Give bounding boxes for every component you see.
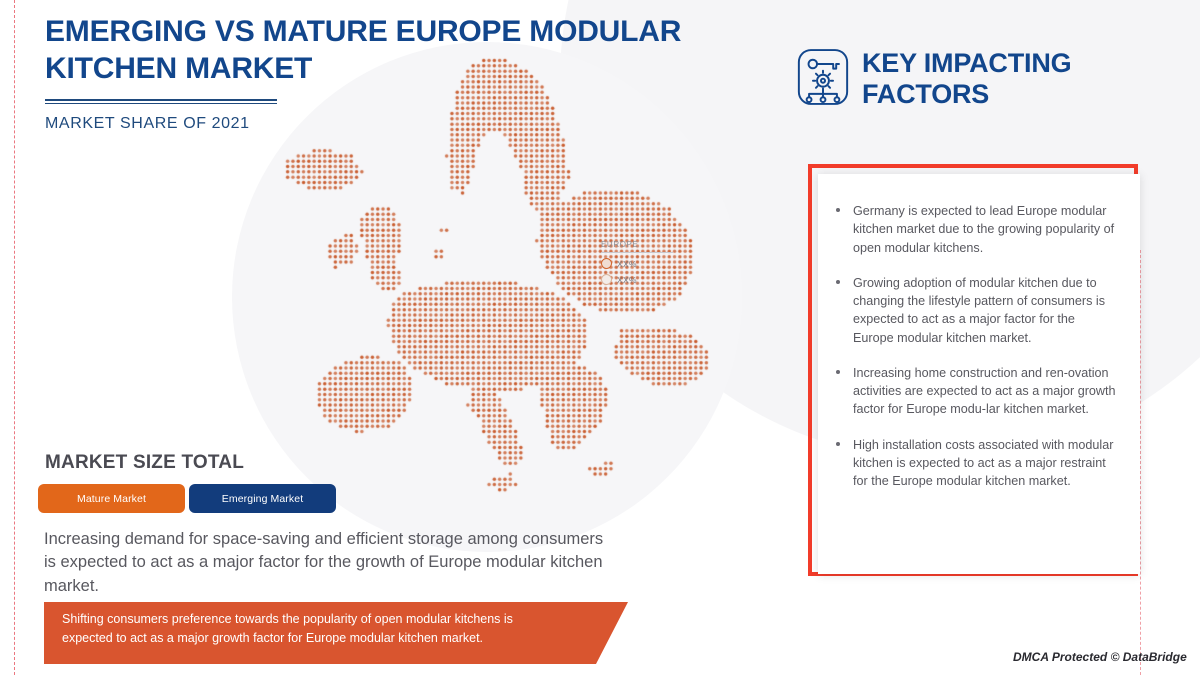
legend-row: XX% xyxy=(601,258,673,269)
growth-factor-banner: Shifting consumers preference towards th… xyxy=(44,602,628,664)
page-title: EMERGING VS MATURE EUROPE MODULAR KITCHE… xyxy=(45,14,745,87)
page-subtitle: MARKET SHARE OF 2021 xyxy=(45,115,745,133)
list-item: Germany is expected to lead Europe modul… xyxy=(836,202,1118,257)
list-item-text: Growing adoption of modular kitchen due … xyxy=(853,276,1105,345)
list-item-text: Increasing home construction and ren-ova… xyxy=(853,366,1116,417)
key-factors-header: KEY IMPACTING FACTORS xyxy=(797,48,1142,109)
title-divider xyxy=(45,99,277,104)
bullet-icon xyxy=(836,208,840,212)
divider-line-bottom xyxy=(45,103,277,104)
market-type-pills: Mature Market Emerging Market xyxy=(38,484,336,513)
faded-dot-icon xyxy=(601,274,612,285)
legend-value: XX% xyxy=(617,259,637,269)
mature-market-pill[interactable]: Mature Market xyxy=(38,484,185,513)
list-item-text: Germany is expected to lead Europe modul… xyxy=(853,204,1114,255)
title-block: EMERGING VS MATURE EUROPE MODULAR KITCHE… xyxy=(45,14,745,133)
infographic-page: EMERGING VS MATURE EUROPE MODULAR KITCHE… xyxy=(0,0,1200,675)
right-dashed-edge xyxy=(1140,250,1141,675)
list-item: Growing adoption of modular kitchen due … xyxy=(836,274,1118,347)
bullet-icon xyxy=(836,280,840,284)
key-factors-list: Germany is expected to lead Europe modul… xyxy=(836,202,1118,490)
bullet-icon xyxy=(836,442,840,446)
bullet-icon xyxy=(836,370,840,374)
legend-row: XX% xyxy=(601,274,673,285)
divider-line-top xyxy=(45,99,277,101)
emerging-market-pill[interactable]: Emerging Market xyxy=(189,484,336,513)
list-item: Increasing home construction and ren-ova… xyxy=(836,364,1118,419)
orange-dot-icon xyxy=(601,258,612,269)
list-item-text: High installation costs associated with … xyxy=(853,438,1113,489)
map-legend: EUROPE XX% XX% xyxy=(601,240,673,285)
copyright-footer: DMCA Protected © DataBridge xyxy=(1013,650,1187,664)
left-dashed-edge xyxy=(14,0,15,675)
legend-value: XX% xyxy=(617,275,637,285)
key-factors-card: Germany is expected to lead Europe modul… xyxy=(818,174,1140,574)
list-item: High installation costs associated with … xyxy=(836,436,1118,491)
legend-region-label: EUROPE xyxy=(601,240,673,253)
key-factors-title: KEY IMPACTING FACTORS xyxy=(862,48,1142,109)
market-size-heading: MARKET SIZE TOTAL xyxy=(45,452,244,474)
body-paragraph: Increasing demand for space-saving and e… xyxy=(44,528,604,598)
key-gear-network-icon xyxy=(797,48,849,106)
